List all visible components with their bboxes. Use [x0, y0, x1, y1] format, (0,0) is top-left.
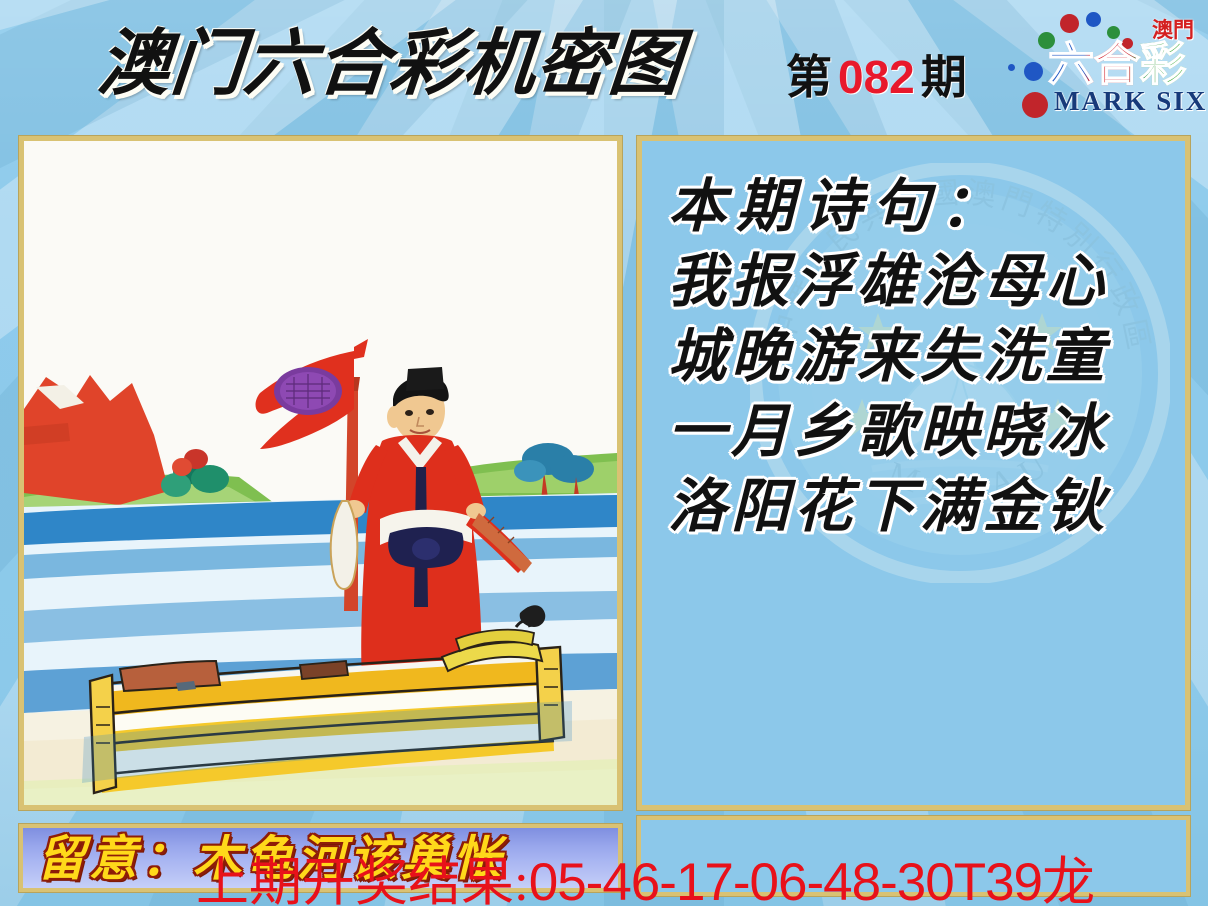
notice-label: 留意： — [37, 833, 193, 886]
issue-prefix: 第 — [786, 52, 832, 103]
logo-dot-blue-1 — [1086, 12, 1101, 27]
logo-dot-red-1 — [1060, 14, 1079, 33]
poem-panel: 中華人民共和國澳門特別行政區 MACAU 本期诗句： 我报浮雄沧母心 城晚游来失… — [637, 136, 1190, 810]
last-draw-result: 上期开奖结果:05-46-17-06-48-30T39龙 — [196, 855, 1094, 906]
logo-dot-red-3 — [1022, 92, 1048, 118]
logo-dot-green-1 — [1107, 26, 1120, 39]
illustration-image — [24, 141, 617, 805]
poem-heading: 本期诗句： — [668, 169, 1179, 244]
page-title: 澳门六合彩机密图 — [95, 28, 685, 100]
poem-text: 本期诗句： 我报浮雄沧母心 城晚游来失洗童 一月乡歌映晓冰 洛阳花下满金钬 — [668, 169, 1179, 544]
poem-line-4: 洛阳花下满金钬 — [668, 469, 1179, 544]
logo-macau-label: 澳門 — [1152, 20, 1194, 41]
logo-dot-blue-2 — [1024, 62, 1043, 81]
header: 澳门六合彩机密图 第082期 澳門 六合彩 MARK SIX — [0, 0, 1208, 128]
last-draw-numbers: 05-46-17-06-48-30T39 — [529, 853, 1042, 906]
poem-line-3: 一月乡歌映晓冰 — [668, 394, 1179, 469]
issue-number: 082 — [832, 51, 921, 103]
poem-line-2: 城晚游来失洗童 — [668, 319, 1179, 394]
illustration-panel — [19, 136, 622, 810]
logo-dot-white-1 — [1008, 64, 1015, 71]
last-draw-label: 上期开奖结果: — [196, 854, 529, 906]
mark-six-logo: 澳門 六合彩 MARK SIX — [1002, 4, 1202, 124]
logo-brand-en: MARK SIX — [1054, 88, 1207, 115]
issue-suffix: 期 — [921, 52, 967, 103]
poem-line-1: 我报浮雄沧母心 — [668, 244, 1179, 319]
last-draw-zodiac: 龙 — [1042, 854, 1094, 906]
logo-brand-cn: 六合彩 — [1048, 42, 1186, 88]
issue-label: 第082期 — [786, 52, 967, 103]
